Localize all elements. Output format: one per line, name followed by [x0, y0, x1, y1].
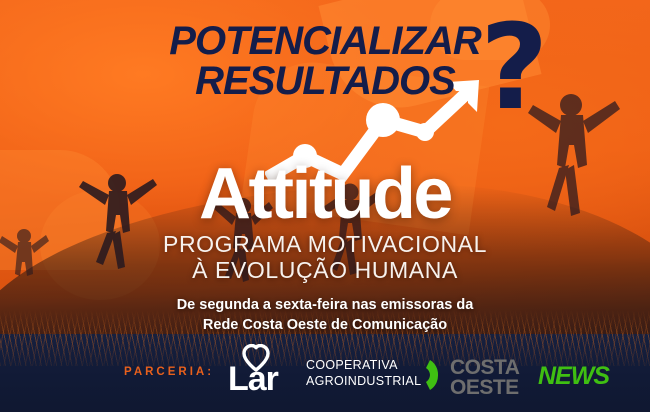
broadcast-line-1: De segunda a sexta-feira nas emissoras d…	[0, 296, 650, 316]
costa-oeste-c-mark-icon	[400, 352, 446, 398]
attitude-wordmark: Attitude	[0, 158, 650, 230]
headline-line-2: RESULTADOS	[0, 62, 650, 100]
costa-oeste-line-1: COSTA	[450, 358, 519, 378]
headline-line-1: POTENCIALIZAR	[0, 22, 650, 60]
promotional-poster: POTENCIALIZAR RESULTADOS ? Attitude PROG…	[0, 0, 650, 412]
costa-oeste-logo: COSTA OESTE	[400, 350, 550, 400]
subtitle-block: PROGRAMA MOTIVACIONAL À EVOLUÇÃO HUMANA	[0, 232, 650, 284]
news-logo: NEWS	[538, 364, 609, 389]
headline-block: POTENCIALIZAR RESULTADOS	[0, 22, 650, 101]
question-mark-icon: ?	[480, 8, 548, 126]
subtitle-line-2: À EVOLUÇÃO HUMANA	[0, 258, 650, 284]
costa-oeste-line-2: OESTE	[450, 378, 519, 398]
lar-logo: Lar	[228, 348, 304, 400]
costa-oeste-text: COSTA OESTE	[450, 358, 519, 398]
subtitle-line-1: PROGRAMA MOTIVACIONAL	[0, 232, 650, 258]
attitude-wordmark-text: Attitude	[199, 154, 451, 234]
broadcast-info-block: De segunda a sexta-feira nas emissoras d…	[0, 296, 650, 335]
lar-logo-text: Lar	[228, 362, 278, 396]
partnership-label: PARCERIA:	[124, 366, 214, 378]
partner-bar: PARCERIA: Lar COOPERATIVA AGROINDUSTRIAL…	[0, 342, 650, 404]
broadcast-line-2: Rede Costa Oeste de Comunicação	[0, 316, 650, 336]
